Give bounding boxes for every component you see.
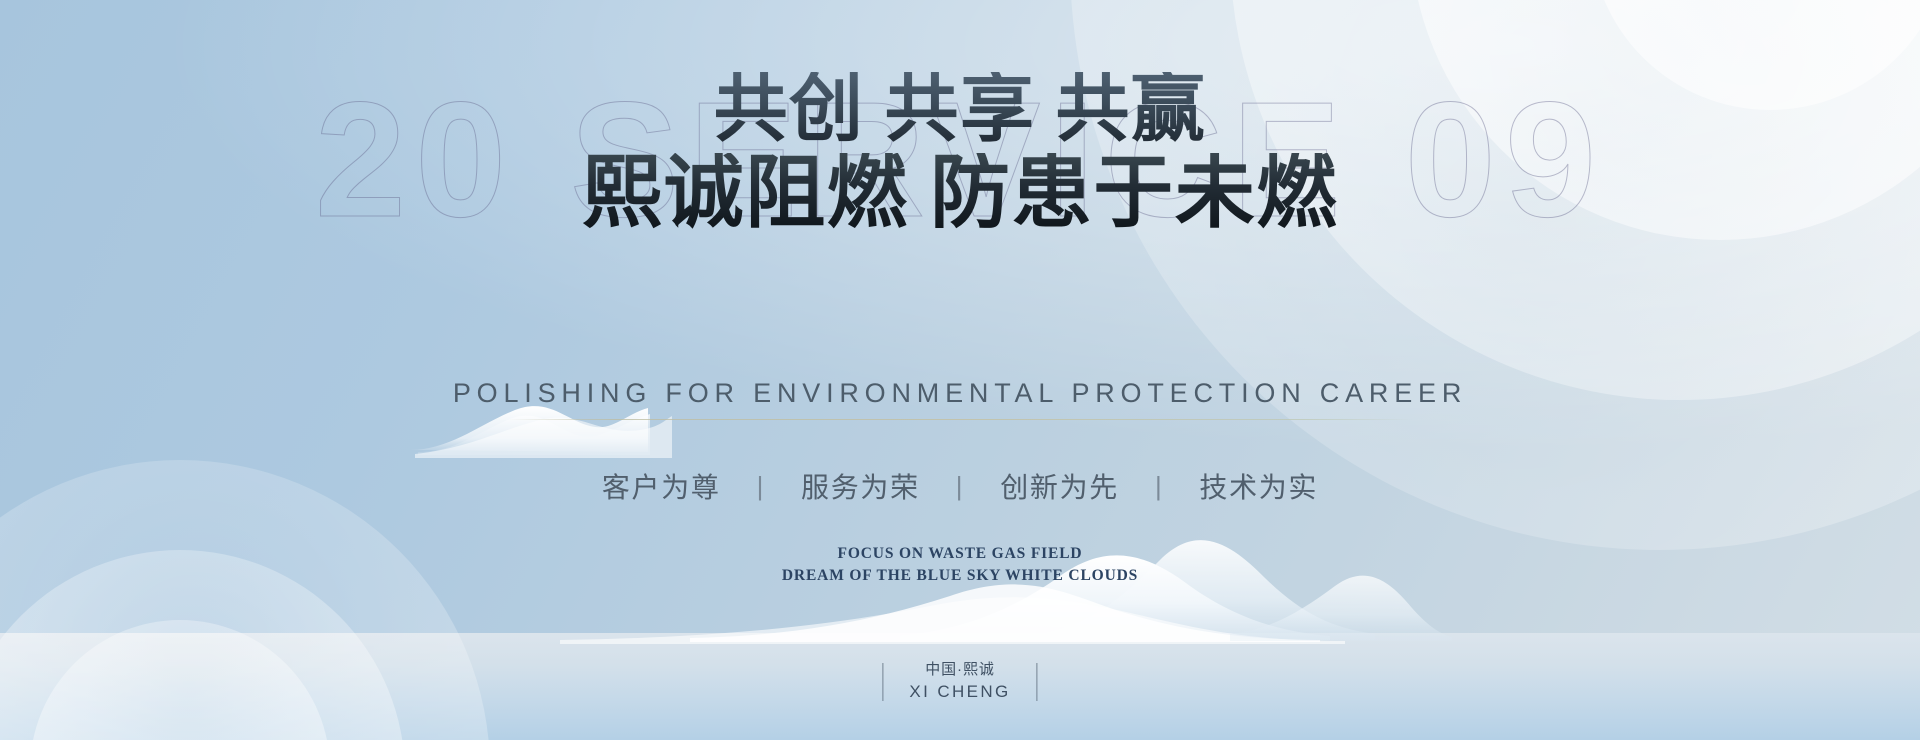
value-separator-2: |	[934, 471, 986, 502]
value-item-4: 技术为实	[1185, 466, 1332, 506]
brand-name-cn: 中国·熙诚	[909, 660, 1010, 680]
headline-line-1: 共创 共享 共赢	[0, 72, 1920, 149]
value-separator-1: |	[735, 471, 787, 502]
brand-divider-left	[882, 663, 883, 701]
headline-block: 共创 共享 共赢 熙诚阻燃 防患于未燃	[0, 72, 1920, 236]
value-item-3: 创新为先	[986, 466, 1133, 506]
brand-text: 中国·熙诚 XI CHENG	[909, 660, 1010, 704]
sub-slogan-line-1: FOCUS ON WASTE GAS FIELD	[0, 543, 1920, 565]
value-separator-3: |	[1133, 471, 1185, 502]
sub-slogan-block: FOCUS ON WASTE GAS FIELD DREAM OF THE BL…	[0, 543, 1920, 588]
headline-line-2: 熙诚阻燃 防患于未燃	[0, 153, 1920, 236]
promo-banner: 20 SERVICE 09 共创 共享 共赢 熙诚阻燃 防患于未燃	[0, 0, 1920, 740]
english-tagline: POLISHING FOR ENVIRONMENTAL PROTECTION C…	[0, 378, 1920, 409]
sub-slogan-line-2: DREAM OF THE BLUE SKY WHITE CLOUDS	[0, 565, 1920, 587]
brand-name-en: XI CHENG	[909, 681, 1010, 704]
values-row: 客户为尊 | 服务为荣 | 创新为先 | 技术为实	[0, 466, 1920, 506]
brand-divider-right	[1037, 663, 1038, 701]
value-item-2: 服务为荣	[787, 466, 934, 506]
tagline-divider-rule	[508, 419, 1413, 420]
brand-lockup: 中国·熙诚 XI CHENG	[882, 660, 1037, 704]
value-item-1: 客户为尊	[588, 466, 735, 506]
